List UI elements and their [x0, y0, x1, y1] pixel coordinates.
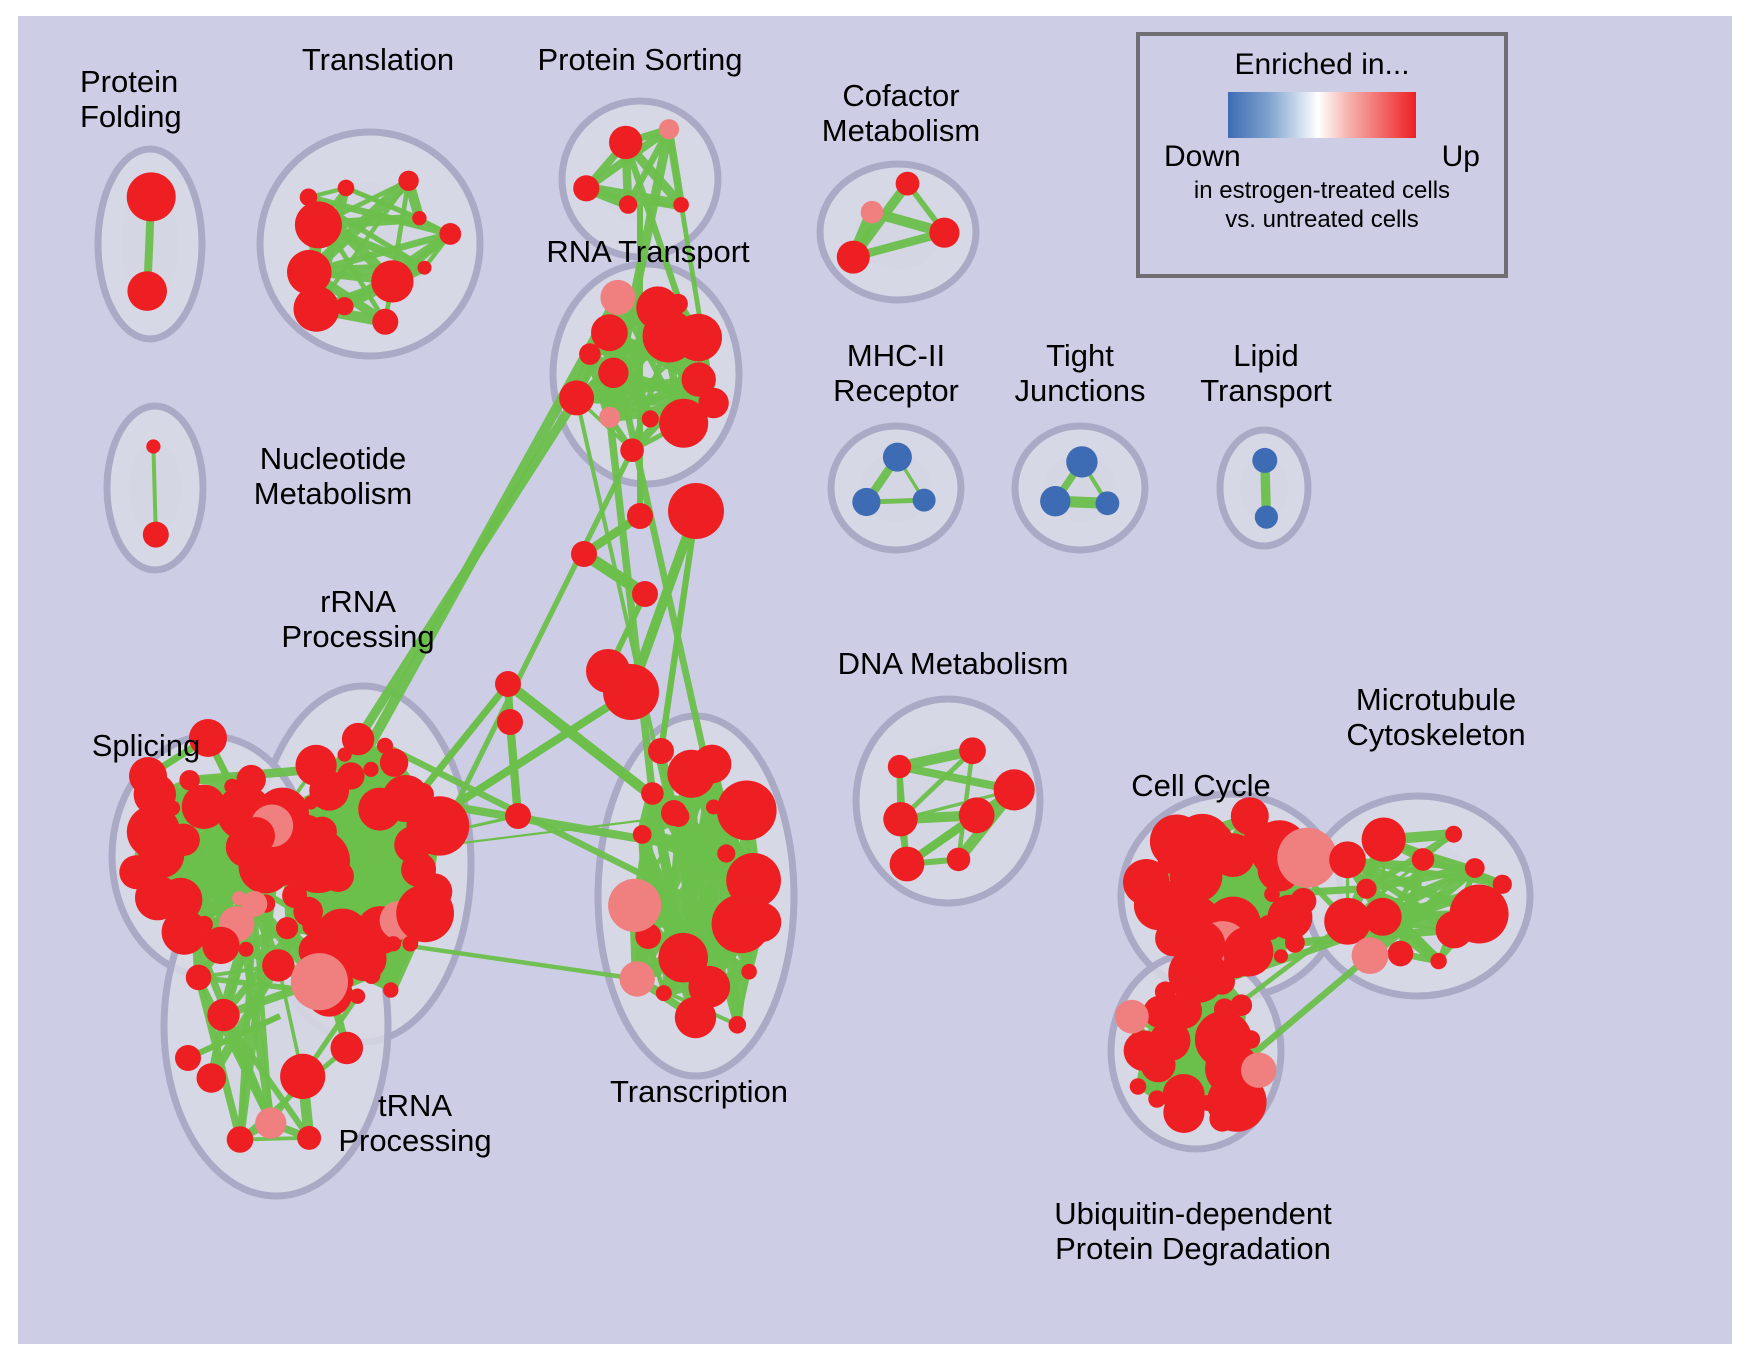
cluster-label-cofactor-metabolism: Cofactor Metabolism: [786, 78, 1016, 148]
network-figure-canvas: Protein Folding Translation Protein Sort…: [18, 16, 1732, 1344]
legend-low-label: Down: [1164, 140, 1241, 174]
legend-color-gradient-bar: [1228, 92, 1416, 138]
cluster-label-transcription: Transcription: [574, 1074, 824, 1109]
cluster-label-lipid-transport: Lipid Transport: [1166, 338, 1366, 408]
cluster-label-protein-folding: Protein Folding: [80, 64, 250, 134]
legend-caption: in estrogen-treated cells vs. untreated …: [1140, 176, 1504, 234]
cluster-label-ubiquitin-protein-degradation: Ubiquitin-dependent Protein Degradation: [978, 1196, 1408, 1266]
cluster-label-translation: Translation: [278, 42, 478, 77]
cluster-label-mhc-ii-receptor: MHC-II Receptor: [796, 338, 996, 408]
cluster-label-splicing: Splicing: [66, 728, 226, 763]
cluster-label-cell-cycle: Cell Cycle: [1096, 768, 1306, 803]
cluster-label-protein-sorting: Protein Sorting: [500, 42, 780, 77]
legend-title: Enriched in...: [1140, 48, 1504, 82]
cluster-label-rna-transport: RNA Transport: [508, 234, 788, 269]
legend-high-label: Up: [1442, 140, 1480, 174]
legend-panel: Enriched in... Down Up in estrogen-treat…: [1136, 32, 1508, 278]
cluster-label-rrna-processing: rRNA Processing: [258, 584, 458, 654]
cluster-label-dna-metabolism: DNA Metabolism: [808, 646, 1098, 681]
cluster-label-tight-junctions: Tight Junctions: [980, 338, 1180, 408]
cluster-label-microtubule-cytoskeleton: Microtubule Cytoskeleton: [1296, 682, 1576, 752]
cluster-label-trna-processing: tRNA Processing: [310, 1088, 520, 1158]
cluster-label-nucleotide-metabolism: Nucleotide Metabolism: [208, 441, 458, 511]
